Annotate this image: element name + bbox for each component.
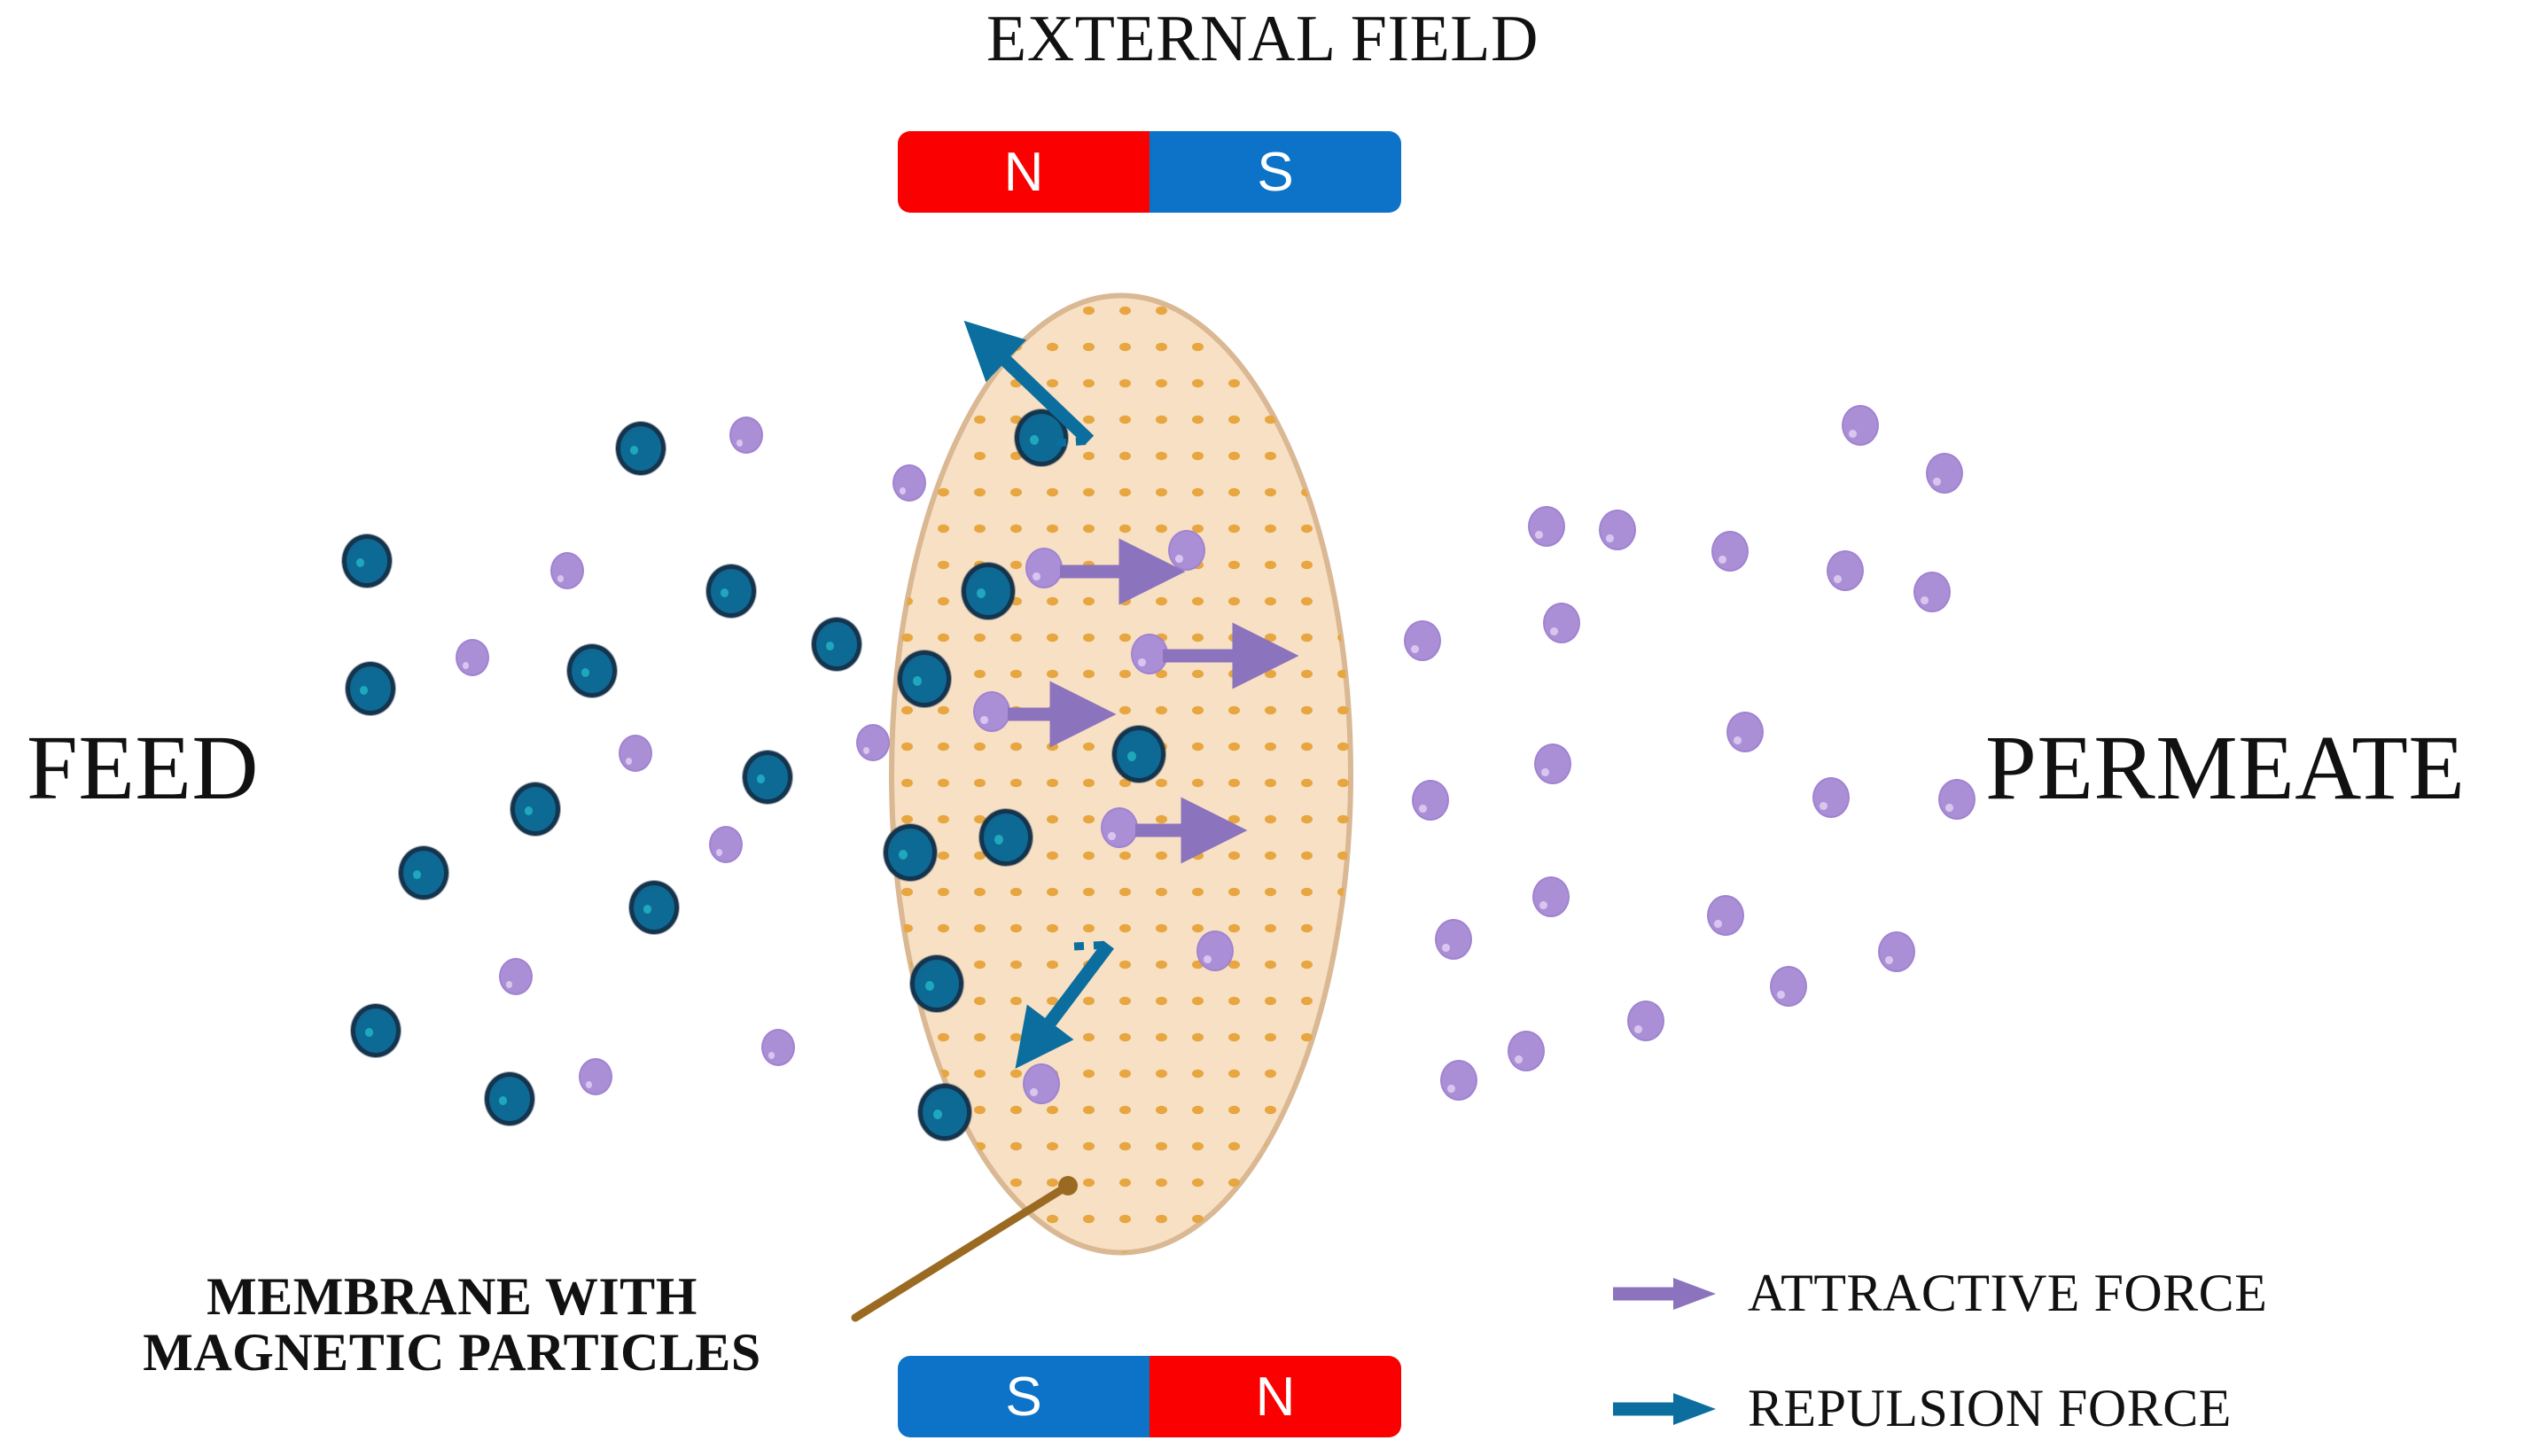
particle-highlight xyxy=(1447,1085,1454,1093)
particle-highlight xyxy=(360,686,368,695)
purple-particle xyxy=(619,735,652,772)
particle-highlight xyxy=(913,676,922,686)
page-title: EXTERNAL FIELD xyxy=(0,5,2525,74)
purple-particle xyxy=(1528,506,1565,547)
teal-particle xyxy=(351,1004,401,1057)
label-permeate: PERMEATE xyxy=(1985,720,2465,816)
particle-highlight xyxy=(1606,534,1613,542)
teal-particle xyxy=(342,534,392,588)
legend-item-attractive-force: ATTRACTIVE FORCE xyxy=(1611,1263,2267,1324)
particle-highlight xyxy=(768,1052,775,1059)
teal-particle xyxy=(346,662,395,715)
purple-particle xyxy=(1812,777,1850,818)
diagram-canvas: EXTERNAL FIELD N S S N xyxy=(0,0,2525,1456)
particle-highlight xyxy=(1175,555,1182,563)
particle-highlight xyxy=(413,870,421,879)
particle-highlight xyxy=(463,662,469,669)
teal-particle xyxy=(979,809,1033,866)
particle-highlight xyxy=(1849,430,1856,438)
particle-highlight xyxy=(1127,751,1136,761)
particle-highlight xyxy=(586,1081,592,1088)
particle-highlight xyxy=(1718,556,1726,564)
particle-highlight xyxy=(1138,658,1145,666)
membrane-label-line-2: MAGNETIC PARTICLES xyxy=(53,1325,851,1381)
purple-particle xyxy=(973,691,1010,732)
purple-particle xyxy=(1534,744,1571,784)
particle-highlight xyxy=(365,1028,373,1037)
particle-highlight xyxy=(1204,955,1211,963)
purple-particle xyxy=(1532,876,1570,917)
teal-particle xyxy=(884,824,937,881)
teal-particle xyxy=(399,846,448,899)
purple-particle xyxy=(1168,530,1205,571)
purple-particle xyxy=(1023,1063,1060,1104)
teal-particle xyxy=(743,751,792,804)
purple-particle xyxy=(856,724,890,761)
teal-particle xyxy=(918,1084,971,1141)
purple-particle xyxy=(1926,453,1963,494)
teal-particle xyxy=(629,881,679,934)
particle-highlight xyxy=(1734,736,1741,744)
purple-particle xyxy=(1770,966,1807,1007)
particle-highlight xyxy=(1541,768,1548,776)
particle-highlight xyxy=(356,558,364,567)
particle-highlight xyxy=(994,835,1003,845)
particle-highlight xyxy=(1411,645,1418,653)
purple-particle xyxy=(499,958,533,995)
particle-highlight xyxy=(1834,575,1841,583)
particle-highlight xyxy=(933,1110,942,1119)
particle-highlight xyxy=(863,747,869,754)
particle-highlight xyxy=(525,806,533,815)
purple-particle xyxy=(456,639,489,676)
particle-highlight xyxy=(557,575,564,582)
particle-highlight xyxy=(716,849,722,856)
magnet-top-south-pole: S xyxy=(1149,131,1401,213)
particle-highlight xyxy=(1419,805,1426,813)
membrane-label-line-1: MEMBRANE WITH xyxy=(53,1269,851,1325)
particle-highlight xyxy=(499,1096,507,1105)
magnet-bottom: S N xyxy=(898,1356,1401,1437)
teal-particle xyxy=(510,783,560,836)
teal-particle xyxy=(616,422,666,475)
purple-particle xyxy=(709,826,743,863)
purple-particle xyxy=(1627,1001,1664,1041)
purple-particle xyxy=(1435,919,1472,960)
particle-highlight xyxy=(900,487,906,494)
particle-highlight xyxy=(1550,627,1557,635)
purple-particle xyxy=(1196,930,1234,971)
teal-particle xyxy=(567,644,617,697)
particle-highlight xyxy=(1442,944,1449,952)
purple-particle xyxy=(1025,548,1063,588)
particle-highlight xyxy=(721,588,729,597)
particle-highlight xyxy=(826,642,834,650)
particle-highlight xyxy=(1634,1025,1641,1033)
particle-highlight xyxy=(1714,920,1721,928)
magnet-bottom-north-pole: N xyxy=(1149,1356,1401,1437)
purple-particle xyxy=(1878,931,1915,972)
purple-particle xyxy=(729,417,763,454)
label-membrane-with-magnetic-particles: MEMBRANE WITH MAGNETIC PARTICLES xyxy=(53,1269,851,1381)
arrow-right-icon xyxy=(1611,1273,1718,1314)
purple-particle xyxy=(761,1029,795,1066)
purple-particle xyxy=(1599,510,1636,550)
purple-particle xyxy=(1711,531,1749,572)
particle-highlight xyxy=(1921,596,1928,604)
particle-highlight xyxy=(643,905,651,914)
particle-highlight xyxy=(630,446,638,455)
purple-particle xyxy=(1508,1031,1545,1071)
particle-highlight xyxy=(581,668,589,677)
particle-highlight xyxy=(1108,832,1115,840)
purple-particle xyxy=(1131,634,1168,674)
particle-highlight xyxy=(1777,991,1784,999)
teal-particle xyxy=(1015,409,1068,466)
legend-label-attractive-force: ATTRACTIVE FORCE xyxy=(1748,1263,2267,1324)
particle-highlight xyxy=(1539,901,1547,909)
purple-particle xyxy=(1543,603,1580,643)
purple-particle xyxy=(1938,779,1976,820)
purple-particle xyxy=(550,552,584,589)
magnet-top-north-pole: N xyxy=(898,131,1149,213)
particle-highlight xyxy=(899,850,908,860)
purple-particle xyxy=(1412,780,1449,821)
particle-highlight xyxy=(1885,956,1892,964)
purple-particle xyxy=(1440,1060,1477,1101)
purple-particle xyxy=(1726,712,1764,752)
particle-highlight xyxy=(626,758,632,765)
magnet-bottom-south-pole: S xyxy=(898,1356,1149,1437)
arrow-right-icon xyxy=(1611,1389,1718,1429)
purple-particle xyxy=(892,464,926,502)
particle-highlight xyxy=(977,588,986,598)
particle-highlight xyxy=(980,716,987,724)
teal-particle xyxy=(898,650,951,707)
particle-highlight xyxy=(1030,1088,1037,1096)
teal-particle xyxy=(962,563,1015,619)
particle-highlight xyxy=(1033,572,1040,580)
particle-highlight xyxy=(1535,531,1542,539)
particle-highlight xyxy=(736,440,743,447)
particle-highlight xyxy=(757,775,765,783)
particle-highlight xyxy=(1945,804,1952,812)
purple-particle xyxy=(1707,895,1744,936)
particle-highlight xyxy=(1933,478,1940,486)
purple-particle xyxy=(1913,572,1951,612)
particle-highlight xyxy=(1515,1055,1522,1063)
purple-particle xyxy=(1827,550,1864,591)
teal-particle xyxy=(485,1072,534,1125)
particle-highlight xyxy=(506,981,512,988)
legend-item-repulsion-force: REPULSION FORCE xyxy=(1611,1378,2232,1439)
purple-particle xyxy=(579,1058,612,1095)
particle-highlight xyxy=(1030,435,1039,445)
teal-particle xyxy=(812,618,861,671)
magnet-top: N S xyxy=(898,131,1401,213)
purple-particle xyxy=(1404,620,1441,661)
label-feed: FEED xyxy=(27,720,259,816)
purple-particle xyxy=(1842,405,1879,446)
particle-highlight xyxy=(1820,802,1827,810)
purple-particle xyxy=(1101,807,1138,848)
teal-particle xyxy=(706,564,756,618)
legend-label-repulsion-force: REPULSION FORCE xyxy=(1748,1378,2232,1439)
particle-highlight xyxy=(925,981,934,991)
teal-particle xyxy=(1112,726,1165,783)
teal-particle xyxy=(910,955,963,1012)
